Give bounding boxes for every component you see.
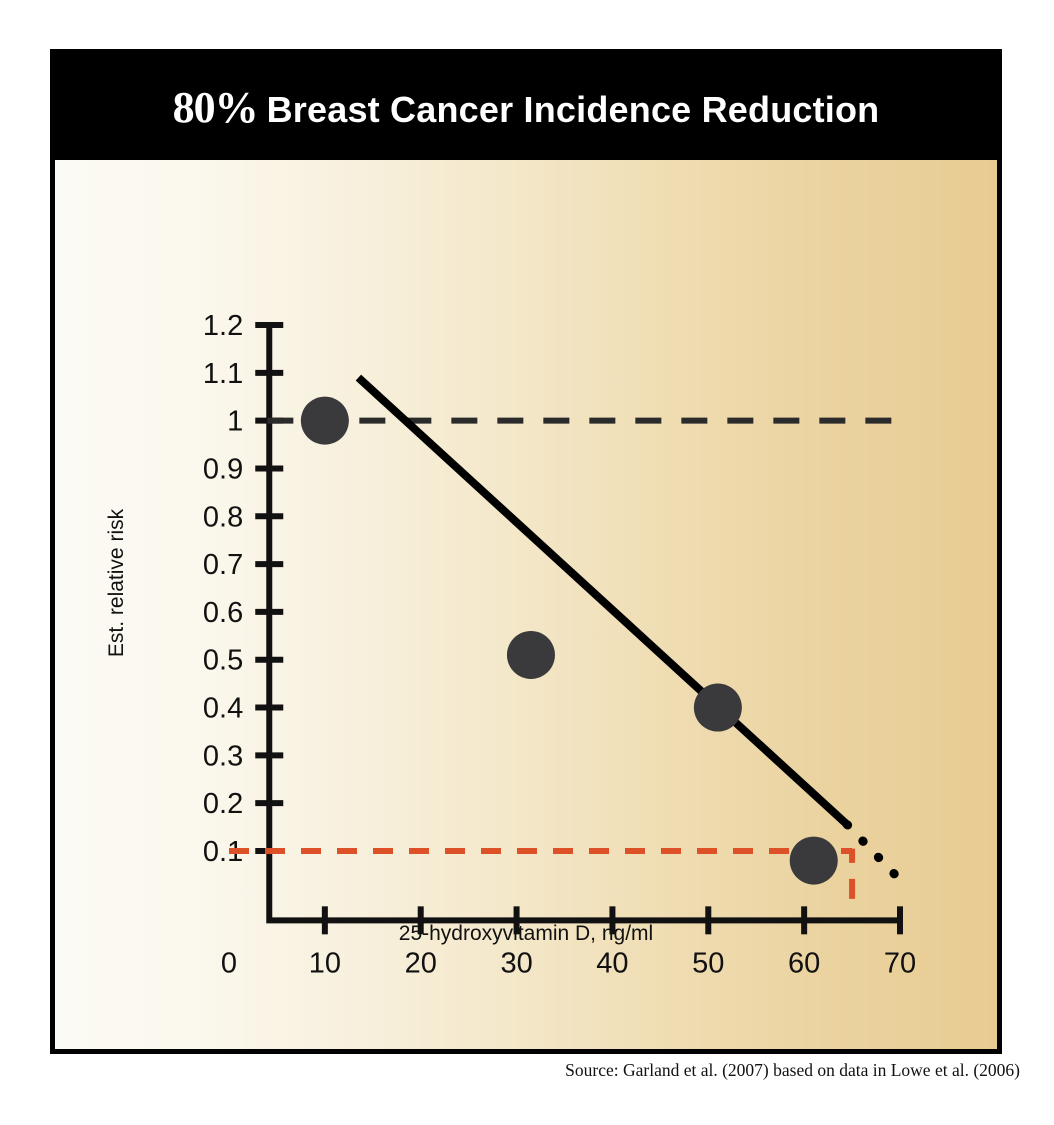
source-caption: Source: Garland et al. (2007) based on d… — [0, 1060, 1020, 1081]
data-point-markers — [301, 397, 838, 885]
x-axis-tick-label: 40 — [596, 947, 628, 979]
data-point-marker — [301, 397, 349, 445]
page-title: 80%Breast Cancer Incidence Reduction — [173, 82, 880, 133]
y-axis-tick-label: 0.5 — [203, 645, 243, 677]
x-axis-title: 25-hydroxyvitamin D, ng/ml — [399, 922, 653, 945]
y-axis-tick-label: 1.1 — [203, 358, 243, 390]
y-axis-tick-label: 0.4 — [203, 693, 243, 725]
y-axis-tick-label: 1.2 — [203, 310, 243, 342]
poster-frame: 80%Breast Cancer Incidence Reduction 0.1… — [50, 49, 1002, 1054]
y-axis-tick-label: 0.2 — [203, 788, 243, 820]
y-axis-tick-labels: 0.10.20.30.40.50.60.70.80.911.11.2 — [203, 310, 243, 868]
data-point-marker — [507, 631, 555, 679]
x-axis-tick-label: 30 — [500, 947, 532, 979]
axis-spine-path — [269, 325, 900, 920]
plot-area: 0.10.20.30.40.50.60.70.80.911.11.2 01020… — [55, 160, 997, 1049]
scatter-chart: 0.10.20.30.40.50.60.70.80.911.11.2 01020… — [55, 160, 997, 1049]
data-point-marker — [694, 684, 742, 732]
x-axis-tick-labels: 010203040506070 — [221, 947, 916, 979]
y-axis-tick-label: 0.7 — [203, 549, 243, 581]
y-axis-tick-label: 1 — [227, 406, 243, 438]
y-axis-tick-label: 0.6 — [203, 597, 243, 629]
y-axis-tick-label: 0.8 — [203, 501, 243, 533]
annotation-lines — [229, 421, 900, 899]
data-point-marker — [790, 837, 838, 885]
x-axis-tick-label: 60 — [788, 947, 820, 979]
y-axis-tick-label: 0.9 — [203, 453, 243, 485]
trend-lines — [358, 378, 895, 875]
trend-line-solid — [358, 378, 847, 825]
x-axis-tick-label: 50 — [692, 947, 724, 979]
x-axis-tick-label: 10 — [309, 947, 341, 979]
title-bar: 80%Breast Cancer Incidence Reduction — [55, 54, 997, 160]
title-percent-value: 80% — [173, 83, 258, 132]
x-axis-tick-label: 0 — [221, 947, 237, 979]
title-subject-text: Breast Cancer Incidence Reduction — [267, 89, 880, 130]
x-axis-tick-label: 20 — [405, 947, 437, 979]
y-axis-title: Est. relative risk — [105, 508, 128, 657]
x-axis-tick-label: 70 — [884, 947, 916, 979]
y-axis-tick-label: 0.3 — [203, 740, 243, 772]
